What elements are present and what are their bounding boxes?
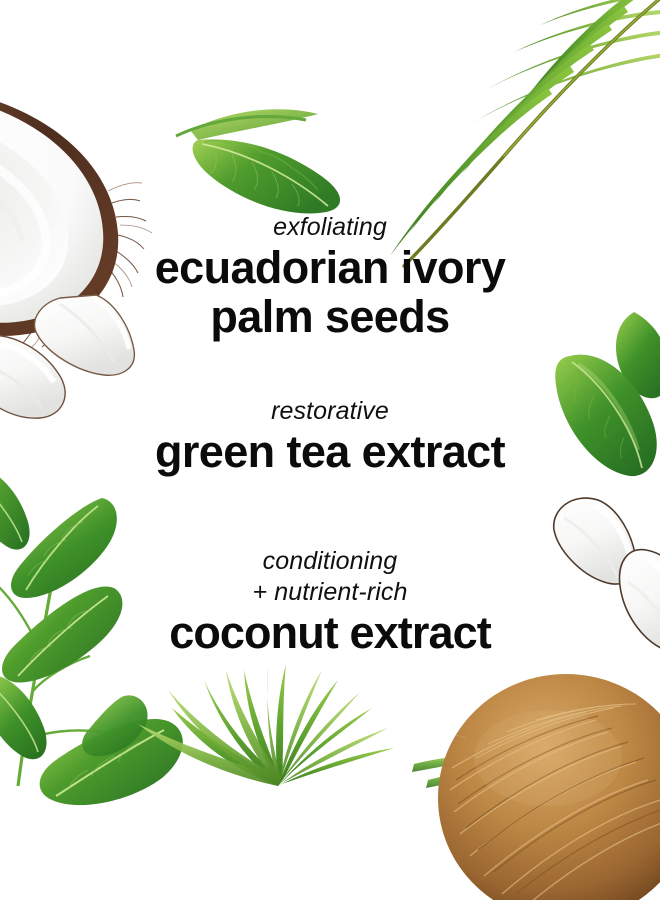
palm-frond-bottom-center xyxy=(170,668,490,900)
kicker-conditioning-line2: + nutrient-rich xyxy=(0,577,660,608)
kicker-conditioning: conditioning xyxy=(0,546,660,577)
kicker-exfoliating: exfoliating xyxy=(0,212,660,243)
coconut-whole-bottom-right xyxy=(436,648,660,900)
ingredient-block-exfoliating: exfoliating ecuadorian ivory palm seeds xyxy=(0,212,660,341)
ingredient-callout-graphic: exfoliating ecuadorian ivory palm seeds … xyxy=(0,0,660,900)
headline-exfoliating-line2: palm seeds xyxy=(0,292,660,341)
headline-conditioning-line1: coconut extract xyxy=(0,608,660,657)
headline-exfoliating-line1: ecuadorian ivory xyxy=(0,243,660,292)
kicker-restorative: restorative xyxy=(0,396,660,427)
headline-restorative-line1: green tea extract xyxy=(0,427,660,476)
ingredient-block-conditioning: conditioning + nutrient-rich coconut ext… xyxy=(0,546,660,657)
ingredient-block-restorative: restorative green tea extract xyxy=(0,396,660,476)
tea-leaf-top-center xyxy=(168,96,378,226)
